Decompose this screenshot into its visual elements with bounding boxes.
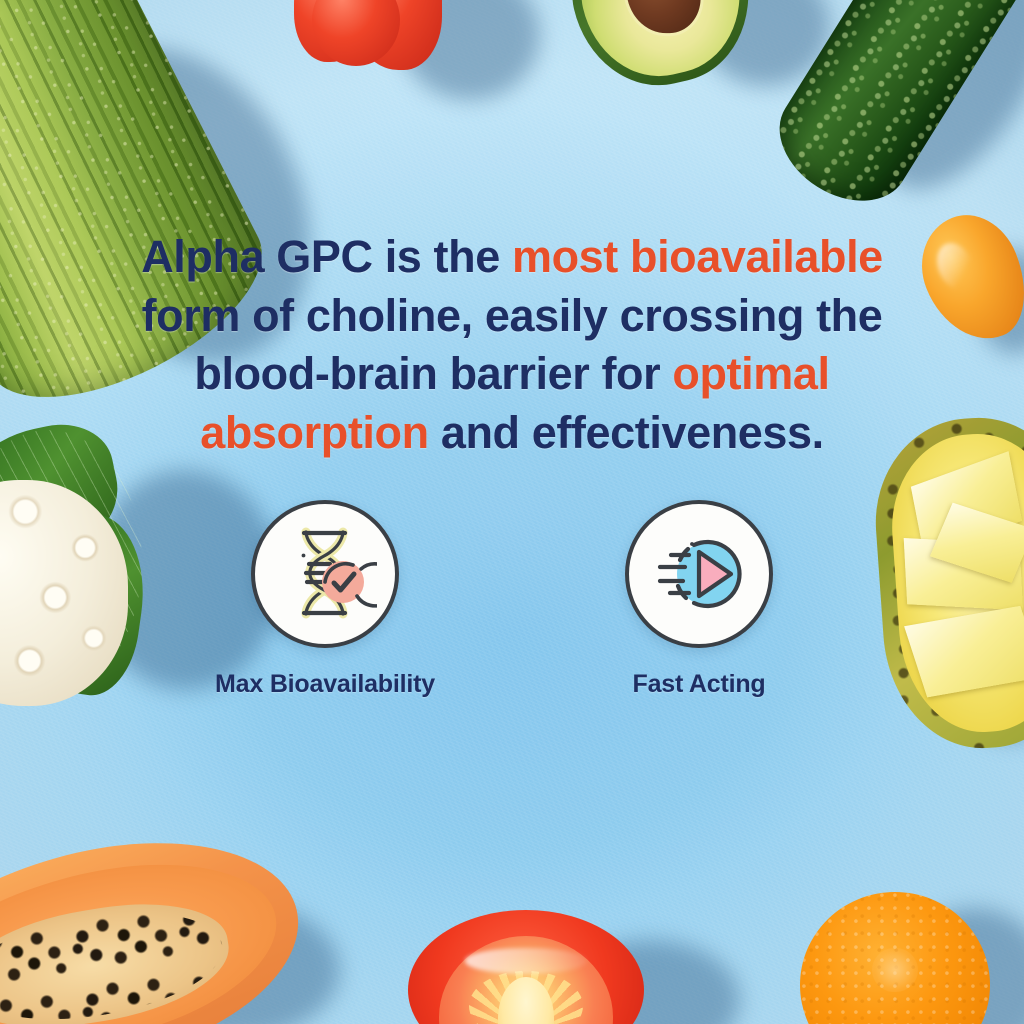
feature-badges: Max Bioavailability bbox=[222, 500, 802, 699]
fast-acting-badge bbox=[625, 500, 773, 648]
max-bioavailability-badge bbox=[251, 500, 399, 648]
promo-content: Alpha GPC is the most bioavailable form … bbox=[0, 0, 1024, 699]
promo-graphic-canvas: Alpha GPC is the most bioavailable form … bbox=[0, 0, 1024, 1024]
headline-line2-plain: form of choline, bbox=[142, 290, 473, 341]
headline-line1-highlight: most bbox=[512, 231, 618, 282]
orange-image bbox=[800, 892, 990, 1024]
feature-max-bioavailability: Max Bioavailability bbox=[222, 500, 428, 699]
headline-line2-highlight: bioavailable bbox=[630, 231, 883, 282]
dna-helix-check-icon bbox=[273, 522, 377, 626]
headline: Alpha GPC is the most bioavailable form … bbox=[112, 228, 912, 462]
feature-label-max-bioavailability: Max Bioavailability bbox=[215, 670, 435, 699]
headline-line4-plain: barrier for bbox=[450, 348, 673, 399]
headline-line5-plain: and effectiveness. bbox=[441, 407, 824, 458]
feature-fast-acting: Fast Acting bbox=[596, 500, 802, 699]
headline-line1-plain: Alpha GPC is the bbox=[141, 231, 512, 282]
tomato-half-image bbox=[408, 910, 644, 1024]
feature-label-fast-acting: Fast Acting bbox=[633, 670, 766, 699]
fast-play-motion-icon bbox=[647, 522, 751, 626]
